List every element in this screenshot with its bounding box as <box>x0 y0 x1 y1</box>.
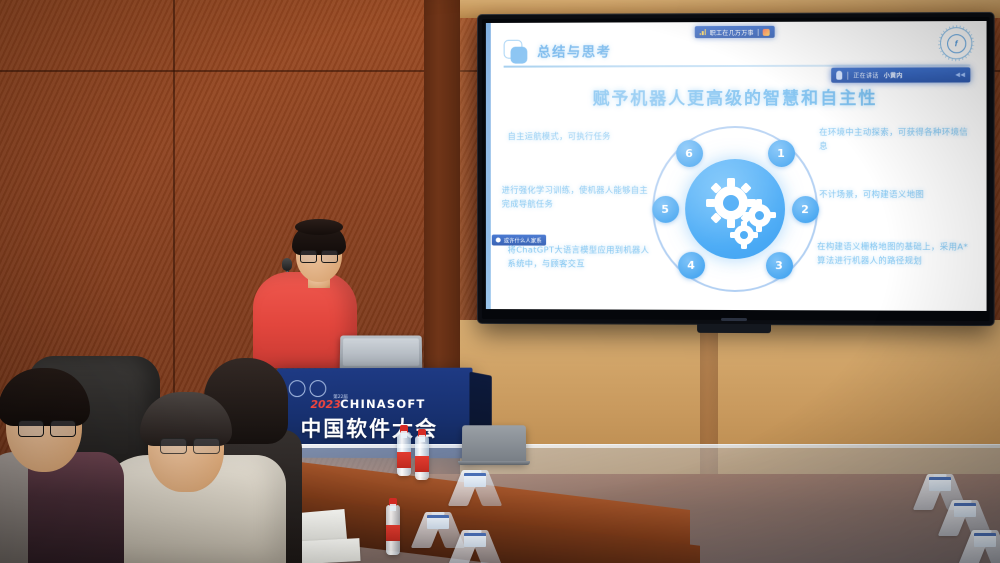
nameplate <box>418 512 458 548</box>
water-bottle <box>415 436 429 480</box>
stream-badge-label: 职工在几万万事 <box>710 27 754 36</box>
nameplate <box>965 530 1000 563</box>
nameplate <box>455 470 495 506</box>
diagram-node-2[interactable]: 2 <box>792 196 819 223</box>
watermark-badge: 或许什么人家系 <box>492 235 546 246</box>
watermark-label: 或许什么人家系 <box>504 236 542 244</box>
signal-bars-icon <box>699 29 705 35</box>
presenter-glasses <box>300 250 338 261</box>
presentation-slide: 总结与思考 f 赋予机器人更高级的智慧和自主性 自主运航模式，可执行任务 进行强… <box>486 21 987 311</box>
record-dot-icon <box>496 238 501 243</box>
stream-viewer-badge: 职工在几万万事 <box>694 26 775 38</box>
organizer-emblem-icon <box>289 380 306 397</box>
caption-node-3: 在构建语义栅格地图的基础上，采用A*算法进行机器人的路径规划 <box>817 240 976 268</box>
tv-brand-logo-icon <box>721 318 747 321</box>
caption-node-5: 进行强化学习训练，使机器人能够自主完成导航任务 <box>502 184 649 211</box>
water-bottle <box>386 505 400 555</box>
slide-header: 总结与思考 <box>504 37 971 68</box>
caption-node-4: 将ChatGPT大语言模型应用到机器人系统中，与顾客交互 <box>508 244 653 272</box>
caption-node-2: 不计场景，可构建语义地图 <box>819 188 972 202</box>
brand-logo-icon: f <box>940 27 972 59</box>
organizer-emblem-icon <box>309 380 326 397</box>
diagram-node-4[interactable]: 4 <box>678 252 705 279</box>
app-icon <box>763 28 770 35</box>
mic-icon <box>836 71 842 80</box>
caption-node-6: 自主运航模式，可执行任务 <box>508 130 647 144</box>
volume-icon: ◀◀ <box>955 71 965 78</box>
tv-stand <box>697 324 771 333</box>
screen-edge-glow <box>486 23 491 309</box>
now-speaking-label: 正在讲话 <box>853 71 878 80</box>
podium-laptop <box>340 335 423 368</box>
diagram-node-1[interactable]: 1 <box>768 140 795 167</box>
slide-title: 赋予机器人更高级的智慧和自主性 <box>486 83 987 109</box>
rounded-squares-icon <box>504 40 528 64</box>
nameplate <box>455 530 495 563</box>
diagram-node-3[interactable]: 3 <box>766 252 793 279</box>
macbook-base <box>458 461 530 465</box>
circular-process-diagram: 1 2 3 4 5 6 <box>652 126 818 292</box>
tv-screen: 总结与思考 f 赋予机器人更高级的智慧和自主性 自主运航模式，可执行任务 进行强… <box>486 21 987 311</box>
banner-english-title: CHINASOFT <box>340 397 425 411</box>
screenshot-root: 总结与思考 f 赋予机器人更高级的智慧和自主性 自主运航模式，可执行任务 进行强… <box>0 0 1000 563</box>
slide-section-label: 总结与思考 <box>537 40 611 60</box>
wall-mounted-tv: 总结与思考 f 赋予机器人更高级的智慧和自主性 自主运航模式，可执行任务 进行强… <box>478 13 994 325</box>
diagram-node-5[interactable]: 5 <box>652 196 679 223</box>
diagram-node-6[interactable]: 6 <box>676 140 703 167</box>
caption-node-1: 在环境中主动探索，可获得各种环境信息 <box>819 126 972 154</box>
water-bottle <box>397 432 411 476</box>
microphone-icon <box>282 258 292 271</box>
macbook-laptop <box>462 425 526 463</box>
now-speaking-bar: 正在讲话 小黄内 ◀◀ <box>831 67 970 82</box>
speaker-name: 小黄内 <box>884 71 903 80</box>
